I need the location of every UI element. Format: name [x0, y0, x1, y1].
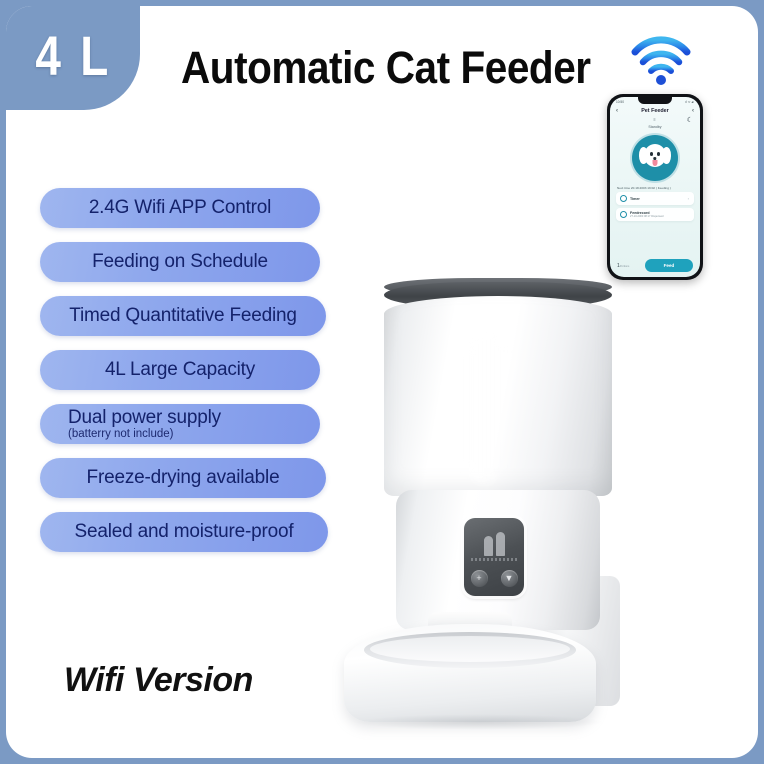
product-image-feeder: + ▼: [336, 276, 666, 736]
feed-button[interactable]: Feed: [645, 259, 693, 272]
feature-pill-4: Dual power supply (batterry not include): [40, 404, 320, 444]
feature-pill-1: Feeding on Schedule: [40, 242, 320, 282]
feature-label: 4L Large Capacity: [105, 359, 255, 381]
feature-list: 2.4G Wifi APP Control Feeding on Schedul…: [40, 188, 330, 566]
drop-shadow: [354, 714, 604, 730]
feature-label: Feeding on Schedule: [92, 251, 268, 273]
feeder-hopper: [384, 296, 612, 496]
pet-avatar-wrap: [610, 135, 700, 181]
feature-pill-0: 2.4G Wifi APP Control: [40, 188, 320, 228]
hopper-highlight: [466, 334, 506, 484]
back-chevron-icon[interactable]: ‹: [616, 108, 618, 114]
pet-silhouette-icon: [464, 530, 524, 556]
next-feed-text: Next time 20.18.2003 19:02 ( Feeding ): [617, 186, 693, 190]
dog-icon: [640, 144, 670, 172]
status-time: 10:50: [616, 100, 624, 104]
panel-microtext: [471, 558, 517, 561]
portion-unit: Portions: [620, 265, 630, 268]
feature-label: Timed Quantitative Feeding: [69, 305, 297, 327]
capacity-badge-label: 4 L: [35, 28, 111, 88]
more-icon[interactable]: ‹: [692, 108, 694, 114]
cat-silhouette: [496, 532, 505, 556]
feature-label: Freeze-drying available: [87, 467, 280, 489]
poster-card: 4 L Automatic Cat Feeder: [6, 6, 758, 758]
record-icon: [620, 211, 627, 218]
down-button[interactable]: ▼: [501, 570, 518, 587]
app-row-feedrecord[interactable]: Feedrecord 27-10-2003 08:17 Dispensed: [616, 208, 694, 222]
page-title: Automatic Cat Feeder: [181, 42, 591, 94]
dog-silhouette: [484, 536, 493, 556]
panel-buttons: + ▼: [464, 570, 524, 587]
version-label: Wifi Version: [64, 661, 253, 700]
product-poster: 4 L Automatic Cat Feeder: [0, 0, 764, 764]
app-row-timer[interactable]: Timer ›: [616, 192, 694, 205]
app-screen: 10:50 ıl ᯤ ▰ ‹ Pet Feeder ‹ ≡ Standby ☾: [610, 97, 700, 277]
feature-pill-5: Freeze-drying available: [40, 458, 326, 498]
plus-button[interactable]: +: [471, 570, 488, 587]
app-status-block: ≡ Standby ☾: [610, 117, 700, 130]
app-row-label: Timer: [630, 197, 640, 201]
app-footer: 1Portions Feed: [610, 259, 700, 272]
phone-notch: [638, 97, 672, 104]
status-icons: ıl ᯤ ▰: [685, 100, 694, 104]
feature-sublabel: (batterry not include): [68, 428, 173, 440]
moon-icon[interactable]: ☾: [687, 115, 693, 127]
feature-label: Dual power supply: [68, 408, 221, 428]
feature-pill-6: Sealed and moisture-proof: [40, 512, 328, 552]
chevron-right-icon: ›: [688, 196, 689, 201]
portion-stepper[interactable]: 1Portions: [617, 263, 629, 269]
dog-tongue: [653, 160, 658, 166]
wifi-icon: [630, 35, 692, 87]
app-title: Pet Feeder: [641, 108, 669, 114]
feature-pill-3: 4L Large Capacity: [40, 350, 320, 390]
capacity-badge: 4 L: [6, 6, 140, 110]
timer-icon: [620, 195, 627, 202]
app-row-sub: 27-10-2003 08:17 Dispensed: [630, 215, 663, 218]
bowl-basin: [370, 636, 570, 662]
feature-label: Sealed and moisture-proof: [75, 521, 294, 543]
phone-mockup: 10:50 ıl ᯤ ▰ ‹ Pet Feeder ‹ ≡ Standby ☾: [607, 94, 703, 280]
feature-label: 2.4G Wifi APP Control: [89, 197, 271, 219]
feature-pill-2: Timed Quantitative Feeding: [40, 296, 326, 336]
feeder-bowl: [344, 624, 596, 722]
avatar: [632, 135, 678, 181]
dog-eye-left: [650, 152, 653, 156]
dog-eye-right: [657, 152, 660, 156]
control-panel[interactable]: + ▼: [464, 518, 524, 596]
